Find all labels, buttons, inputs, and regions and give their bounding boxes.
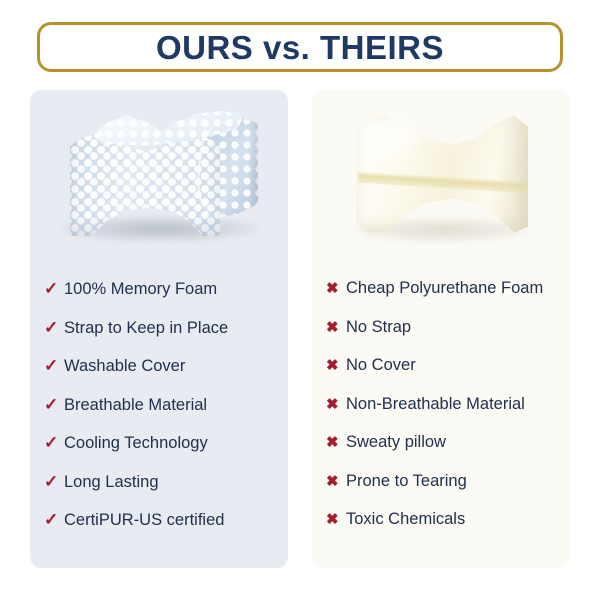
- list-item: ✓ Breathable Material: [30, 396, 288, 435]
- feature-label: Cooling Technology: [64, 435, 208, 452]
- feature-label: Long Lasting: [64, 474, 159, 491]
- list-item: ✓ Washable Cover: [30, 357, 288, 396]
- list-item: ✖ Cheap Polyurethane Foam: [312, 280, 570, 319]
- feature-label: Breathable Material: [64, 397, 207, 414]
- check-icon: ✓: [44, 473, 64, 490]
- comparison-column-theirs: ✖ Cheap Polyurethane Foam ✖ No Strap ✖ N…: [312, 90, 570, 568]
- list-item: ✓ Strap to Keep in Place: [30, 319, 288, 358]
- feature-list-theirs: ✖ Cheap Polyurethane Foam ✖ No Strap ✖ N…: [312, 268, 570, 550]
- cross-icon: ✖: [326, 397, 346, 412]
- polyurethane-foam-pillow-illustration: [348, 108, 536, 254]
- check-icon: ✓: [44, 357, 64, 374]
- list-item: ✖ Prone to Tearing: [312, 473, 570, 512]
- cross-icon: ✖: [326, 281, 346, 296]
- cross-icon: ✖: [326, 435, 346, 450]
- pillow-zipper-seam: [195, 120, 262, 220]
- list-item: ✓ Long Lasting: [30, 473, 288, 512]
- feature-label: Cheap Polyurethane Foam: [346, 280, 543, 297]
- cross-icon: ✖: [326, 320, 346, 335]
- check-icon: ✓: [44, 280, 64, 297]
- feature-label: Prone to Tearing: [346, 473, 467, 490]
- product-image-theirs: [312, 90, 570, 268]
- feature-label: Non-Breathable Material: [346, 396, 525, 413]
- check-icon: ✓: [44, 511, 64, 528]
- feature-label: Washable Cover: [64, 358, 185, 375]
- list-item: ✓ CertiPUR-US certified: [30, 511, 288, 550]
- feature-label: Sweaty pillow: [346, 434, 446, 451]
- list-item: ✓ 100% Memory Foam: [30, 280, 288, 319]
- feature-list-ours: ✓ 100% Memory Foam ✓ Strap to Keep in Pl…: [30, 268, 288, 550]
- product-image-ours: [30, 90, 288, 268]
- cross-icon: ✖: [326, 358, 346, 373]
- cross-icon: ✖: [326, 512, 346, 527]
- list-item: ✖ No Cover: [312, 357, 570, 396]
- list-item: ✖ No Strap: [312, 319, 570, 358]
- pillow-highlight: [366, 118, 428, 170]
- list-item: ✓ Cooling Technology: [30, 434, 288, 473]
- cross-icon: ✖: [326, 474, 346, 489]
- list-item: ✖ Non-Breathable Material: [312, 396, 570, 435]
- feature-label: No Strap: [346, 319, 411, 336]
- list-item: ✖ Sweaty pillow: [312, 434, 570, 473]
- check-icon: ✓: [44, 319, 64, 336]
- feature-label: No Cover: [346, 357, 416, 374]
- feature-label: CertiPUR-US certified: [64, 512, 224, 529]
- check-icon: ✓: [44, 396, 64, 413]
- feature-label: Toxic Chemicals: [346, 511, 465, 528]
- feature-label: Strap to Keep in Place: [64, 320, 228, 337]
- memory-foam-pillow-illustration: [56, 104, 261, 254]
- title-banner: OURS vs. THEIRS: [37, 22, 563, 72]
- list-item: ✖ Toxic Chemicals: [312, 511, 570, 550]
- check-icon: ✓: [44, 434, 64, 451]
- feature-label: 100% Memory Foam: [64, 281, 217, 298]
- comparison-column-ours: ✓ 100% Memory Foam ✓ Strap to Keep in Pl…: [30, 90, 288, 568]
- page-title: OURS vs. THEIRS: [156, 31, 444, 64]
